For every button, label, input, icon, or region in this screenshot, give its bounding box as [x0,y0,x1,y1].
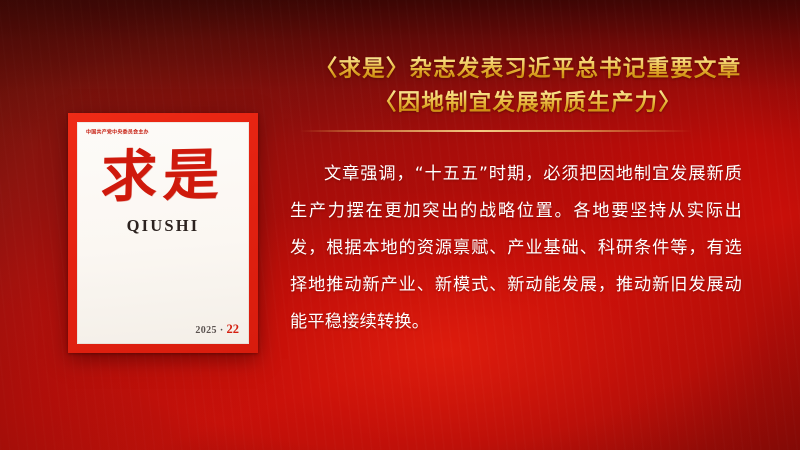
headline-line-2: 〈因地制宜发展新质生产力〉 [288,86,768,120]
magazine-cover: 中国共产党中央委员会主办 求是 QIUSHI 2025 · 22 [68,113,258,353]
magazine-issue-year: 2025 · [195,325,223,336]
magazine-title-pinyin: QIUSHI [77,216,249,236]
magazine-title-calligraphy: 求是 [77,146,249,206]
magazine-masthead-line: 中国共产党中央委员会主办 [86,129,149,135]
magazine-issue-number: 22 [227,322,240,336]
broadcast-graphic-slide: 中国共产党中央委员会主办 求是 QIUSHI 2025 · 22 〈求是〉杂志发… [0,0,800,450]
headline: 〈求是〉杂志发表习近平总书记重要文章 〈因地制宜发展新质生产力〉 [288,52,768,120]
magazine-issue-label: 2025 · 22 [195,322,239,337]
headline-line-1: 〈求是〉杂志发表习近平总书记重要文章 [288,52,768,86]
magazine-cover-face: 中国共产党中央委员会主办 求是 QIUSHI 2025 · 22 [77,122,249,344]
gold-divider-line [300,130,692,132]
article-summary-paragraph: 文章强调，“十五五”时期，必须把因地制宜发展新质生产力摆在更加突出的战略位置。各… [290,156,742,341]
